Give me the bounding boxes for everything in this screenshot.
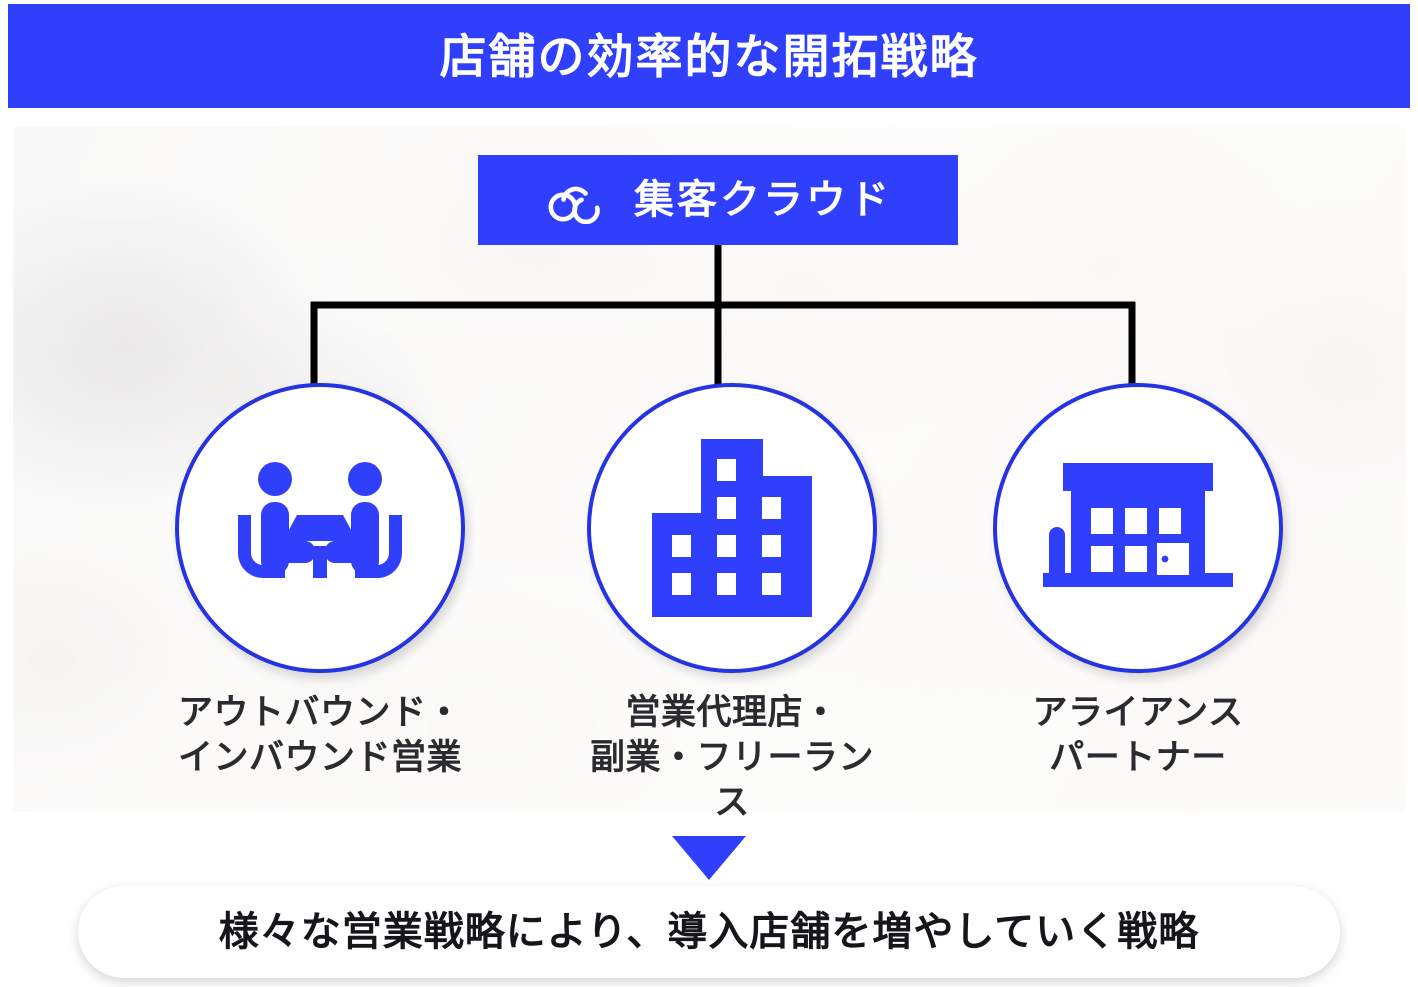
page-title: 店舗の効率的な開拓戦略 — [440, 33, 979, 80]
branch-label: アライアンス パートナー — [988, 691, 1288, 781]
office-building-icon — [652, 439, 812, 617]
storefront-shop-icon — [1043, 463, 1233, 593]
meeting-table-people-icon — [230, 453, 410, 603]
branch-label: 営業代理店・ 副業・フリーランス — [582, 691, 882, 825]
branch-node-alliance-partner[interactable]: アライアンス パートナー — [988, 383, 1288, 781]
conclusion-callout: 様々な営業戦略により、導入店舗を増やしていく戦略 — [78, 886, 1340, 978]
branch-label: アウトバウンド・ インバウンド営業 — [170, 691, 470, 781]
branch-node-outbound-inbound[interactable]: アウトバウンド・ インバウンド営業 — [170, 383, 470, 781]
down-triangle-arrow-icon — [672, 836, 746, 880]
branch-circle — [993, 383, 1283, 673]
cloud-logo-icon — [544, 176, 614, 224]
title-banner: 店舗の効率的な開拓戦略 — [8, 4, 1410, 108]
branch-circle — [175, 383, 465, 673]
conclusion-text: 様々な営業戦略により、導入店舗を増やしていく戦略 — [219, 912, 1199, 952]
branch-circle — [587, 383, 877, 673]
cloud-service-badge[interactable]: 集客クラウド — [478, 155, 958, 245]
branch-node-sales-agency[interactable]: 営業代理店・ 副業・フリーランス — [582, 383, 882, 825]
cloud-badge-label: 集客クラウド — [634, 180, 892, 220]
